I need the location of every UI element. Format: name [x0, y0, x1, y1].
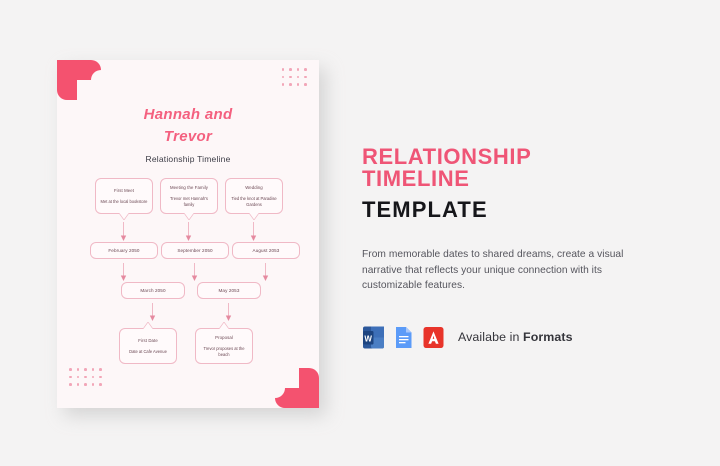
flow-node-desc: Met at the local bookstore	[101, 199, 148, 204]
template-preview-canvas: Hannah and Trevor Relationship Timeline …	[0, 0, 720, 466]
flow-node-desc: Tied the knot at Paradise Gardens	[230, 196, 278, 207]
template-info-panel: RELATIONSHIP TIMELINE TEMPLATE From memo…	[362, 146, 634, 350]
flow-arrow-down-icon	[249, 222, 258, 241]
flow-arrow-down-icon	[224, 303, 233, 321]
bubble-tail-icon	[219, 322, 229, 329]
flow-date-august-2053[interactable]: August 2053	[232, 242, 300, 259]
flow-date-label: May 2053	[219, 288, 240, 294]
template-description: From memorable dates to shared dreams, c…	[362, 247, 634, 294]
corner-bracket-top-left-icon	[57, 60, 101, 100]
heading-line-timeline: TIMELINE	[362, 168, 634, 190]
flow-node-desc: Trevor proposes at the beach	[200, 346, 248, 357]
flow-event-wedding[interactable]: Wedding Tied the knot at Paradise Garden…	[225, 178, 283, 214]
google-docs-file-icon[interactable]	[392, 325, 415, 350]
flow-arrow-down-icon	[119, 222, 128, 241]
flow-date-february-2050[interactable]: February 2050	[90, 242, 158, 259]
flow-arrow-down-icon	[261, 263, 270, 281]
formats-label-plain: Availabe in	[458, 330, 523, 344]
flow-date-label: March 2050	[140, 288, 165, 294]
flow-arrow-down-icon	[190, 263, 199, 281]
document-heading: Hannah and Trevor Relationship Timeline	[57, 104, 319, 164]
available-formats-label: Availabe in Formats	[458, 330, 573, 344]
flow-node-title: First Date	[138, 338, 158, 344]
available-formats-row: W Availabe in Formats	[362, 325, 634, 350]
flow-date-may-2053[interactable]: May 2053	[197, 282, 261, 299]
heading-line-template: TEMPLATE	[362, 199, 634, 221]
document-preview-card[interactable]: Hannah and Trevor Relationship Timeline …	[57, 60, 319, 408]
pdf-file-icon[interactable]	[422, 325, 445, 350]
flow-event-proposal[interactable]: Proposal Trevor proposes at the beach	[195, 328, 253, 364]
flow-arrow-down-icon	[148, 303, 157, 321]
document-subtitle: Relationship Timeline	[57, 154, 319, 164]
flow-arrow-down-icon	[184, 222, 193, 241]
flow-arrow-down-icon	[119, 263, 128, 281]
flow-date-label: August 2053	[253, 248, 280, 254]
heading-line-relationship: RELATIONSHIP	[362, 146, 634, 168]
flow-date-label: February 2050	[108, 248, 139, 254]
relationship-timeline-flowchart: First Meet Met at the local bookstore Me…	[57, 178, 319, 403]
flow-event-first-date[interactable]: First Date Date at Cafe Avenue	[119, 328, 177, 364]
flow-node-desc: Trevor met Hannah's family	[165, 196, 213, 207]
formats-label-bold: Formats	[523, 330, 573, 344]
svg-text:W: W	[364, 334, 372, 343]
flow-event-meeting-the-family[interactable]: Meeting the Family Trevor met Hannah's f…	[160, 178, 218, 214]
bubble-tail-icon	[119, 213, 129, 220]
flow-node-desc: Date at Cafe Avenue	[129, 349, 167, 354]
flow-event-first-meet[interactable]: First Meet Met at the local bookstore	[95, 178, 153, 214]
flow-date-march-2050[interactable]: March 2050	[121, 282, 185, 299]
flow-node-title: Meeting the Family	[170, 185, 208, 191]
bubble-tail-icon	[184, 213, 194, 220]
dot-grid-top-right-icon	[282, 68, 307, 86]
flow-node-title: Proposal	[215, 335, 233, 341]
couple-name-line-1: Hannah and	[57, 104, 319, 126]
flow-node-title: Wedding	[245, 185, 263, 191]
bubble-tail-icon	[249, 213, 259, 220]
bubble-tail-icon	[143, 322, 153, 329]
flow-date-september-2050[interactable]: September 2050	[161, 242, 229, 259]
couple-name-line-2: Trevor	[57, 126, 319, 148]
word-file-icon[interactable]: W	[362, 325, 385, 350]
flow-date-label: September 2050	[177, 248, 212, 254]
flow-node-title: First Meet	[114, 188, 134, 194]
